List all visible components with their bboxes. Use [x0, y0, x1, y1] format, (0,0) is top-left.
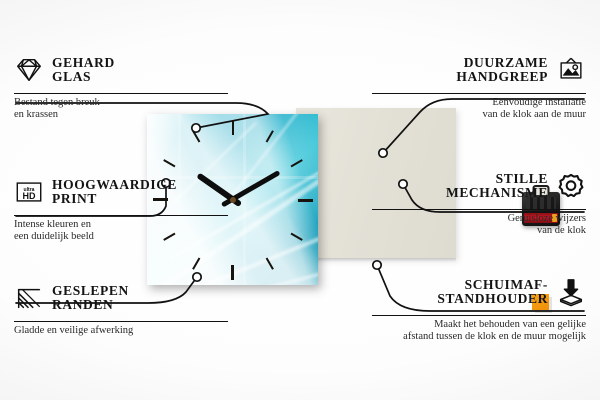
divider: [372, 315, 586, 316]
feature-hoogwaardige-print: ultra HD HOOGWAARDIGEPRINT Intense kleur…: [14, 172, 228, 244]
feature-gehard-glas: GEHARDGLAS Bestand tegen breuken krassen: [14, 50, 228, 122]
feature-description: Maakt het behouden van een gelijkeafstan…: [372, 319, 586, 344]
feature-description: Geruisloze wijzersvan de klok: [372, 213, 586, 238]
feature-schuimafstandhouder: SCHUIMAF-STANDHOUDER Maakt het behouden …: [372, 272, 586, 344]
infographic-canvas: GEHARDGLAS Bestand tegen breuken krassen…: [0, 0, 600, 400]
feature-title: HOOGWAARDIGEPRINT: [52, 178, 177, 207]
divider: [372, 209, 586, 210]
divider: [14, 215, 228, 216]
feature-description: Gladde en veilige afwerking: [14, 325, 228, 337]
feature-title: STILLEMECHANISME: [446, 172, 548, 201]
diamond-icon: [14, 55, 44, 85]
feature-stille-mechanisme: STILLEMECHANISME Geruisloze wijzersvan d…: [372, 166, 586, 238]
feature-title: GESLEPENRANDEN: [52, 284, 129, 313]
feature-description: Intense kleuren eneen duidelijk beeld: [14, 219, 228, 244]
feature-title: DUURZAMEHANDGREEP: [456, 56, 548, 85]
feature-description: Eenvoudige installatievan de klok aan de…: [372, 97, 586, 122]
hour-mark: [233, 199, 313, 201]
feature-title: SCHUIMAF-STANDHOUDER: [437, 278, 548, 307]
feature-geslepen-randen: GESLEPENRANDEN Gladde en veilige afwerki…: [14, 278, 228, 337]
feature-title: GEHARDGLAS: [52, 56, 115, 85]
picture-frame-icon: [556, 55, 586, 85]
hour-mark: [232, 200, 234, 280]
beveled-edges-icon: [14, 283, 44, 313]
svg-text:HD: HD: [23, 191, 36, 201]
center-cap: [230, 197, 236, 203]
divider: [14, 93, 228, 94]
ultra-hd-icon: ultra HD: [14, 177, 44, 207]
feature-description: Bestand tegen breuken krassen: [14, 97, 228, 122]
hour-mark: [232, 120, 234, 200]
divider: [372, 93, 586, 94]
press-down-icon: [556, 277, 586, 307]
gear-icon: [556, 171, 586, 201]
divider: [14, 321, 228, 322]
feature-duurzame-handgreep: DUURZAMEHANDGREEP Eenvoudige installatie…: [372, 50, 586, 122]
